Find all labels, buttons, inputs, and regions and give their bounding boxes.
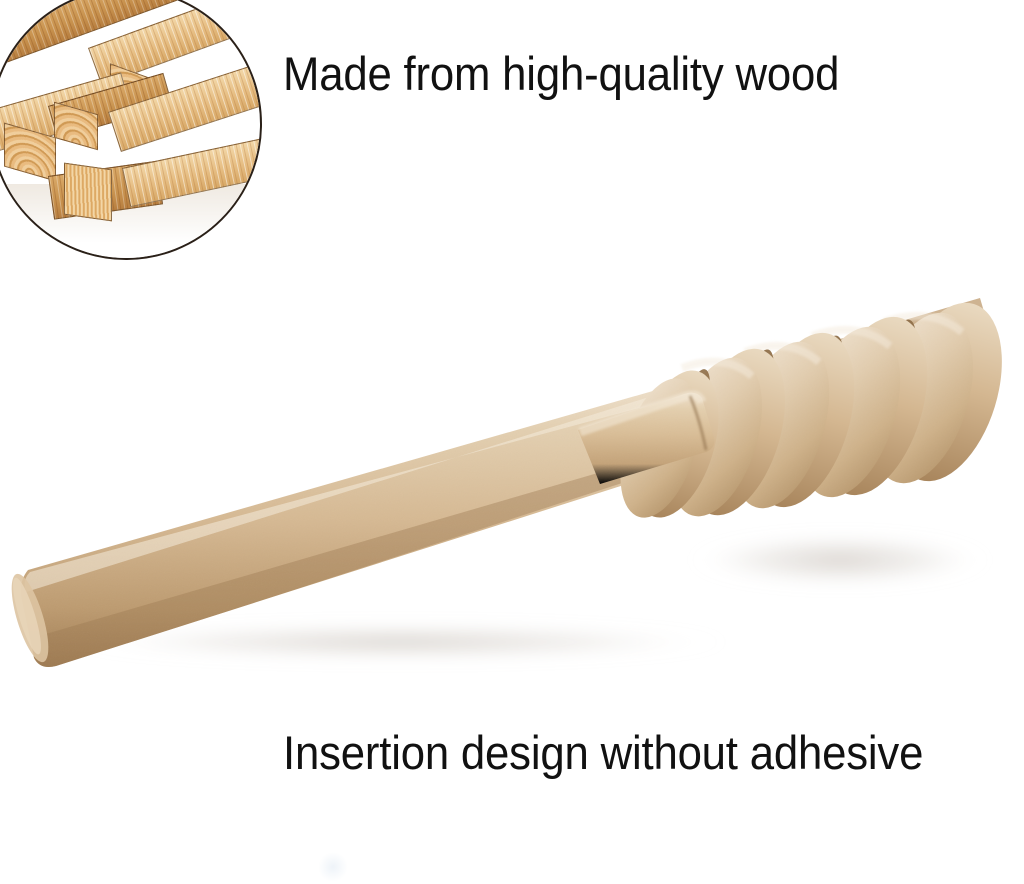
dipper-head (578, 289, 1022, 527)
honey-dipper-product (0, 270, 1024, 690)
wood-inset-clip (0, 0, 260, 258)
feature-caption-bottom: Insertion design without adhesive (283, 729, 923, 776)
product-feature-image: Made from high-quality wood Insertion de… (0, 0, 1024, 884)
beam-end-grain (64, 163, 112, 222)
faint-watermark-artifact (318, 852, 348, 882)
feature-caption-top: Made from high-quality wood (283, 50, 839, 97)
wood-inset-circle (0, 0, 262, 260)
